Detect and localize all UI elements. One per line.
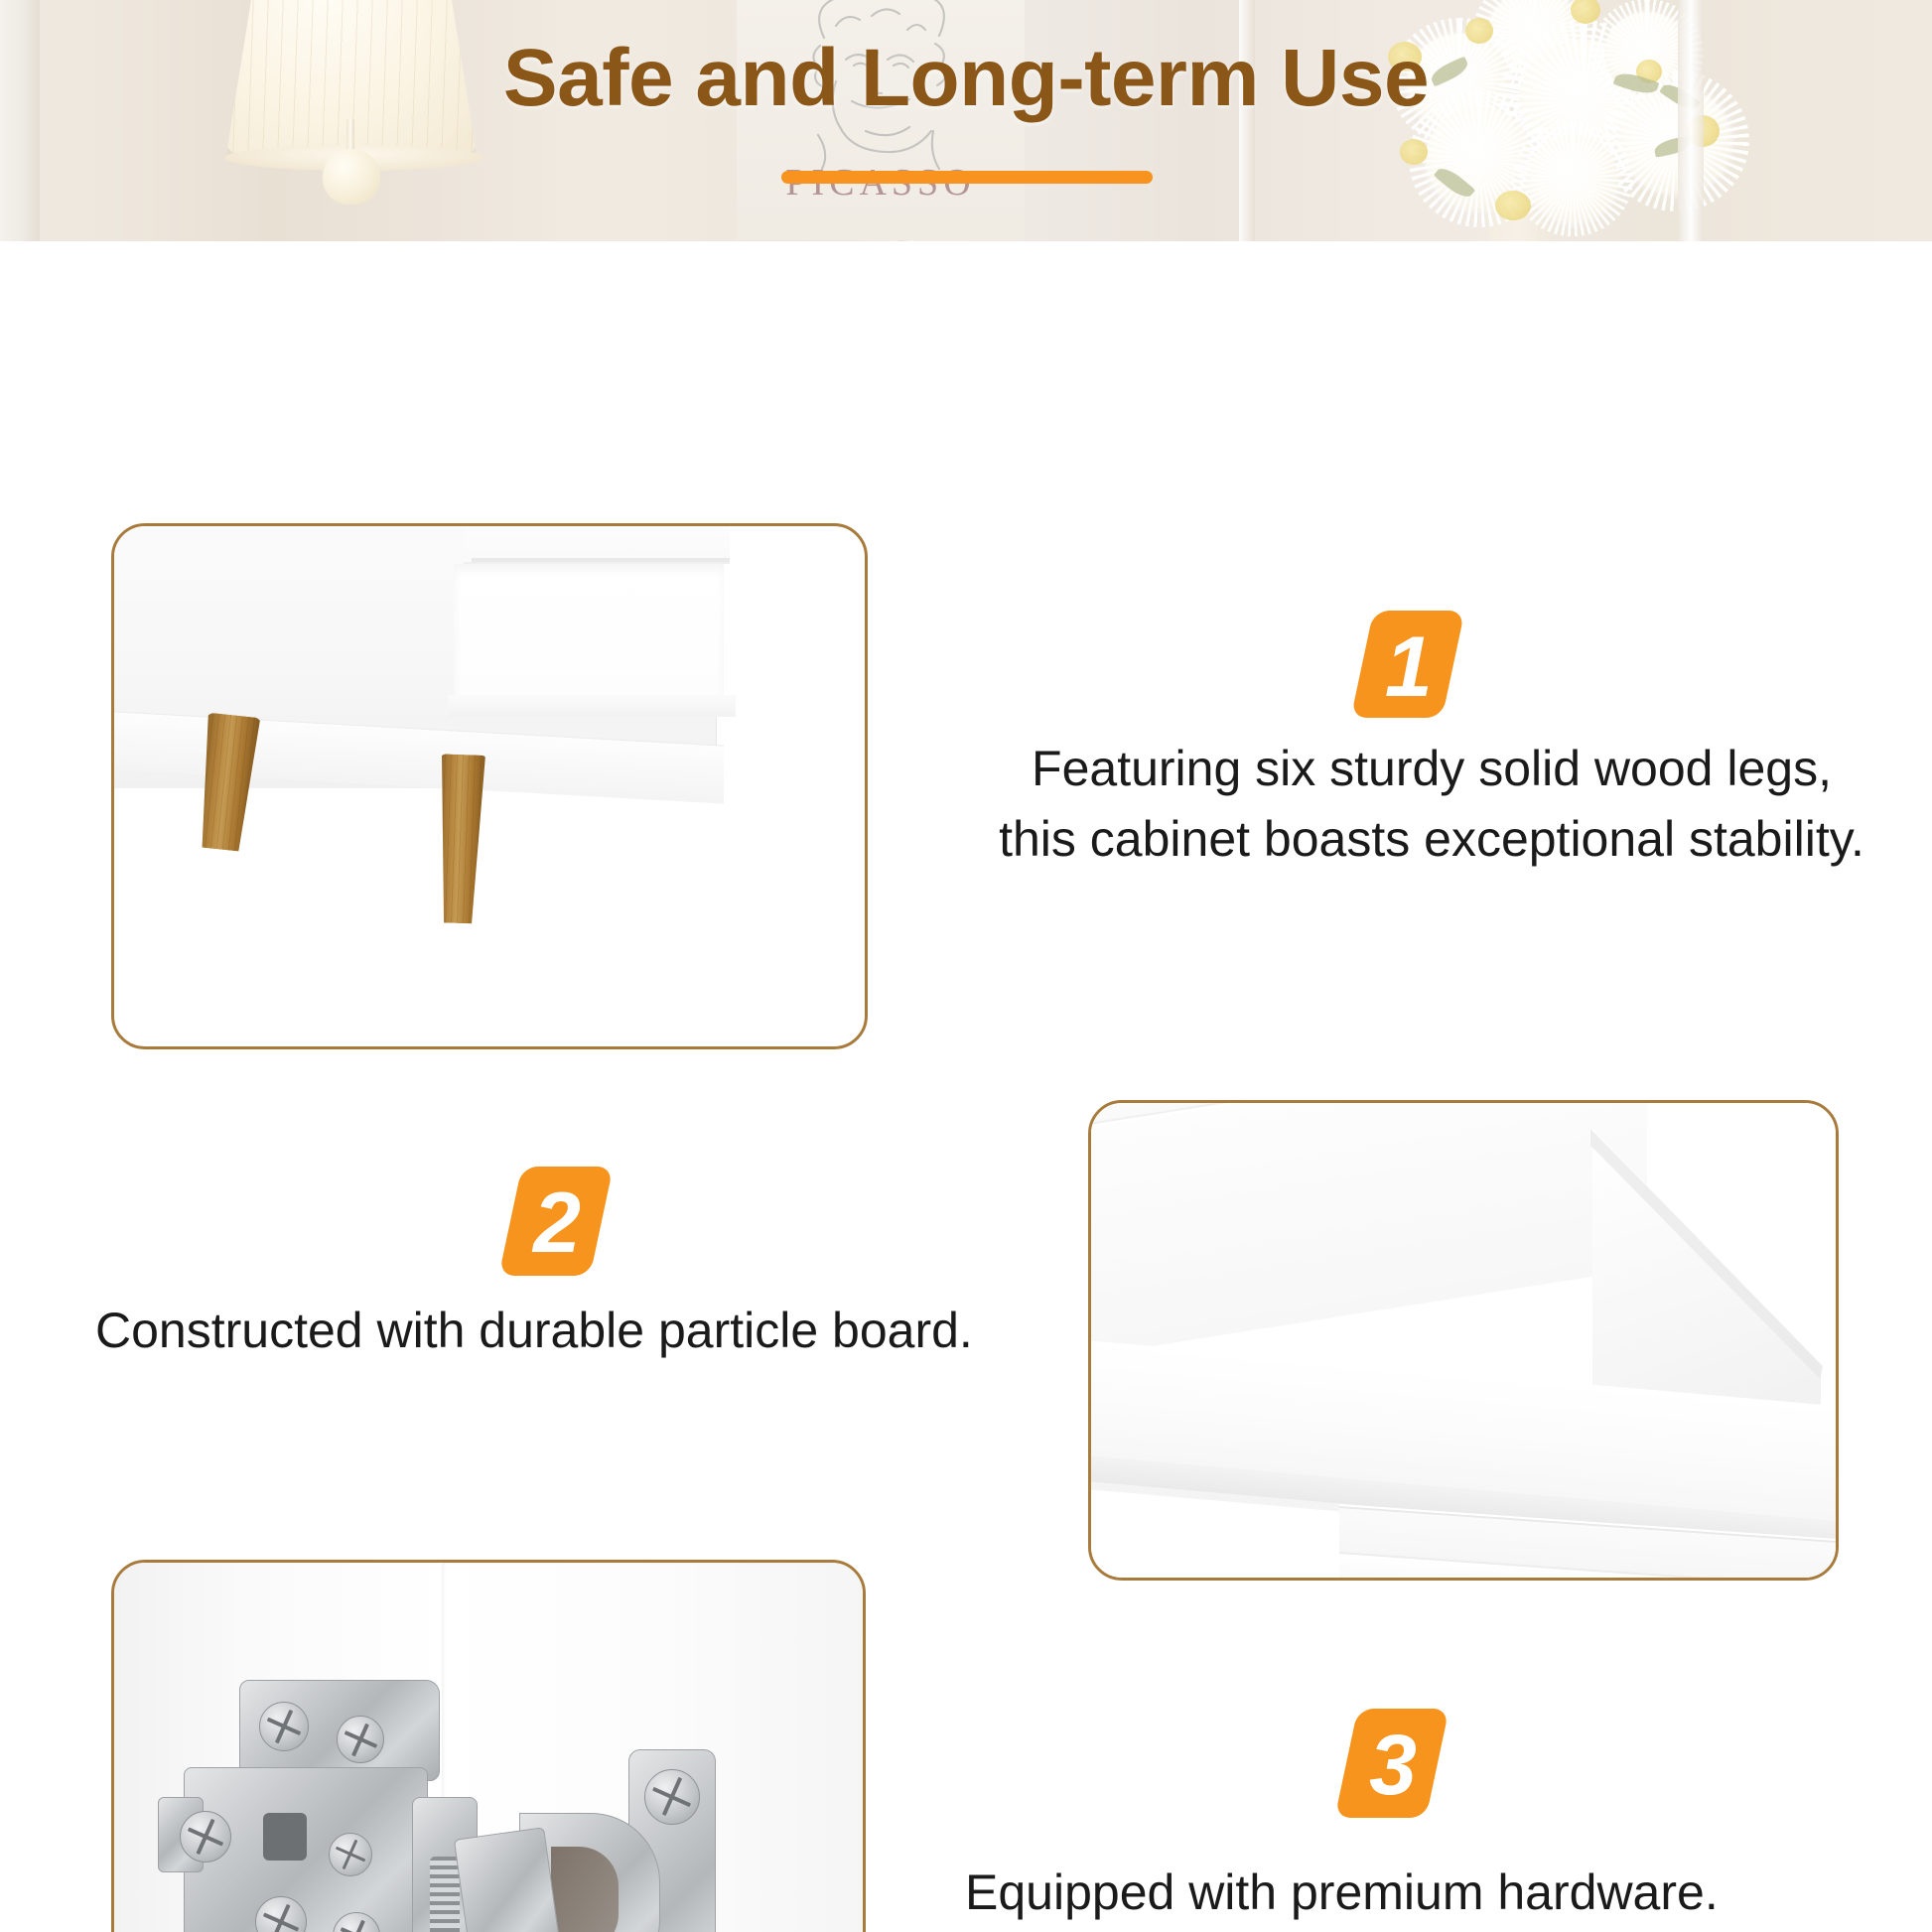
lamp-knob: [323, 149, 380, 205]
cabinet-open-niche: [454, 564, 724, 699]
hinge-adjust-screw-left: [180, 1811, 231, 1863]
photo-panel-wooden-legs: [111, 523, 868, 1049]
hinge-cup-screw-top: [644, 1769, 700, 1825]
page-title: Safe and Long-term Use: [0, 32, 1932, 125]
hinge-slot-cutout: [263, 1813, 307, 1861]
title-underline-accent: [781, 171, 1153, 184]
feature-badge-2-number: 2: [511, 1167, 603, 1266]
feature-badge-1-number: 1: [1363, 611, 1454, 710]
feature-caption-3: Equipped with premium hardware.: [965, 1858, 1789, 1928]
hinge-cam-screw: [329, 1833, 372, 1876]
feature-badge-3: 3: [1334, 1709, 1449, 1818]
shelf-back-wall: [1088, 1100, 1647, 1362]
shelf-assembly: [1091, 1103, 1836, 1578]
hinge-screw-top-right: [337, 1716, 384, 1763]
cabinet-drawer-seam: [472, 558, 730, 562]
content-card: 1 Featuring six sturdy solid wood legs, …: [34, 241, 1898, 1898]
cabinet-niche-floor: [448, 695, 736, 717]
feature-badge-1: 1: [1351, 611, 1465, 718]
feature-badge-2: 2: [498, 1167, 613, 1276]
feature-badge-3-number: 3: [1347, 1709, 1439, 1808]
infographic-page: PICASSO Safe and Long-term Us: [0, 0, 1932, 1932]
feature-caption-2: Constructed with durable particle board.: [95, 1296, 1019, 1366]
photo-panel-hinge: [111, 1560, 866, 1932]
hinge-screw-top-left: [259, 1702, 309, 1751]
hinge-spring: [430, 1857, 460, 1932]
hinge-arm-link: [454, 1827, 561, 1932]
photo-panel-open-shelf: [1088, 1100, 1839, 1581]
header-banner: PICASSO Safe and Long-term Us: [0, 0, 1932, 241]
hinge-cup-shadow: [551, 1847, 619, 1932]
feature-caption-1: Featuring six sturdy solid wood legs, th…: [965, 734, 1898, 875]
